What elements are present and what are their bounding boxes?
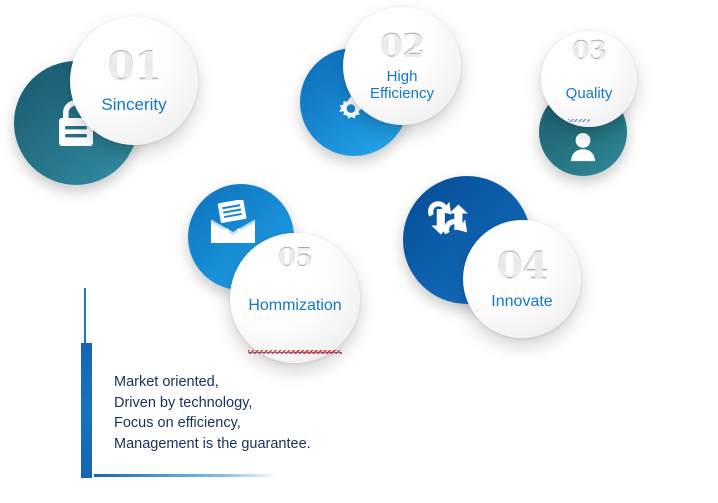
node-05-caption-text: Hommization <box>248 297 341 314</box>
statement-bottom-rule <box>94 474 279 477</box>
node-05-number: 05 <box>278 245 312 271</box>
node-02-caption: High Efficiency <box>370 69 434 103</box>
exchange-arrows-icon <box>425 198 473 242</box>
person-icon <box>570 132 596 162</box>
node-01-number: 01 <box>107 47 161 87</box>
node-04-caption: Innovate <box>491 293 552 311</box>
infographic-canvas: 01 Sincerity 02 High Efficiency 03 Quali… <box>0 0 718 503</box>
node-01-caption: Sincerity <box>101 95 166 114</box>
node-01-label-circle[interactable]: 01 Sincerity <box>70 17 198 145</box>
statement-text: Market oriented, Driven by technology, F… <box>114 372 454 454</box>
node-03-caption: Quality <box>566 69 613 119</box>
node-04-label-circle[interactable]: 04 Innovate <box>463 220 581 338</box>
node-05-caption: Hommization <box>248 279 341 351</box>
envelope-icon <box>208 200 258 246</box>
spellcheck-underline-red-wavy <box>248 350 341 354</box>
statement-accent-bar <box>81 343 92 478</box>
node-02-number: 02 <box>380 29 424 62</box>
node-03-caption-text: Quality <box>566 85 613 102</box>
node-03-number: 03 <box>572 38 606 64</box>
node-05-label-circle[interactable]: 05 Hommization <box>230 233 360 363</box>
node-03-label-circle[interactable]: 03 Quality <box>541 31 637 127</box>
node-04-number: 04 <box>497 247 548 285</box>
statement-thin-rule <box>84 288 86 344</box>
node-02-label-circle[interactable]: 02 High Efficiency <box>343 7 461 125</box>
spellcheck-underline-dotted <box>568 119 590 122</box>
